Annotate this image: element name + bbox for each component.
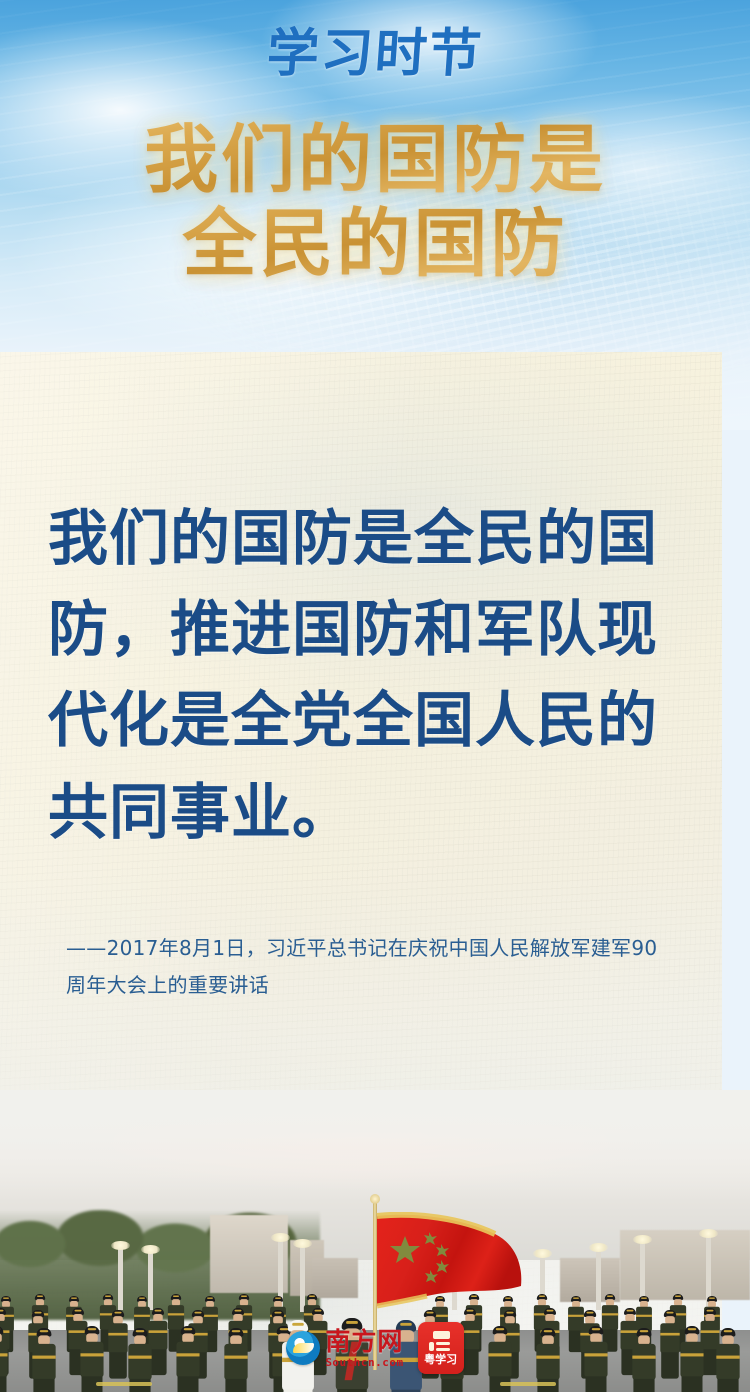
yuexuexi-label: 粤学习 — [424, 1354, 457, 1365]
quote-text: 我们的国防是全民的国防，推进国防和军队现代化是全党全国人民的共同事业。 — [48, 494, 688, 859]
page-title: 我们的国防是 全民的国防 — [0, 118, 750, 287]
southcn-logo[interactable]: 南方网 Southcn.com — [286, 1329, 403, 1368]
site-logo-label: 学习时节 — [265, 28, 485, 80]
southcn-logo-en: Southcn.com — [325, 1357, 403, 1368]
quote-attribution: ——2017年8月1日，习近平总书记在庆祝中国人民解放军建军90周年大会上的重要… — [66, 930, 666, 1004]
site-logo[interactable]: 学习时节 — [0, 28, 750, 80]
yuexuexi-logo[interactable]: 粤学习 — [418, 1322, 464, 1374]
footer-logos: 南方网 Southcn.com 粤学习 — [0, 1322, 750, 1374]
poster-root: 学习时节 我们的国防是 全民的国防 我们的国防是全民的国防，推进国防和军队现代化… — [0, 0, 750, 1392]
southcn-logo-cn: 南方网 — [325, 1329, 403, 1354]
yuexuexi-book-icon — [429, 1331, 453, 1351]
road-marking — [500, 1382, 556, 1386]
road-marking — [96, 1382, 152, 1386]
page-title-line-1: 我们的国防是 — [0, 118, 750, 202]
southcn-swirl-icon — [286, 1331, 320, 1365]
china-national-flag — [375, 1212, 525, 1312]
flag-finial — [370, 1194, 380, 1204]
page-title-line-2: 全民的国防 — [0, 202, 750, 286]
